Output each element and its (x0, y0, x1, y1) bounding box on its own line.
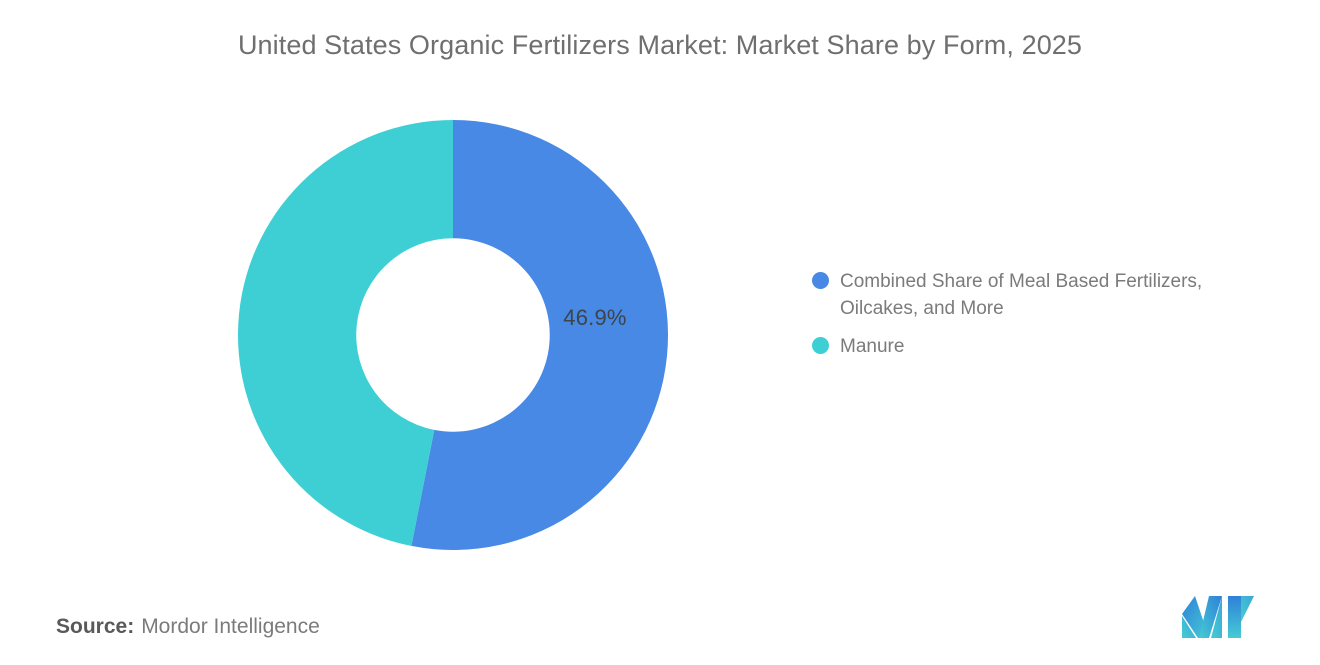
legend-swatch-circle-icon (812, 272, 829, 289)
donut-chart-svg (238, 120, 668, 550)
legend-swatch-circle-icon (812, 337, 829, 354)
legend-label-manure: Manure (840, 333, 904, 360)
data-label-manure: 46.9% (540, 305, 650, 331)
page-title: United States Organic Fertilizers Market… (0, 30, 1320, 61)
legend-item-combined-share[interactable]: Combined Share of Meal Based Fertilizers… (812, 268, 1292, 322)
donut-slice[interactable] (238, 120, 453, 546)
chart-legend: Combined Share of Meal Based Fertilizers… (812, 268, 1292, 371)
legend-item-manure[interactable]: Manure (812, 333, 1292, 360)
source-value: Mordor Intelligence (141, 615, 320, 638)
donut-chart (238, 120, 668, 550)
legend-label-combined-share: Combined Share of Meal Based Fertilizers… (840, 268, 1270, 322)
logo-svg (1182, 596, 1254, 638)
source-label: Source: (56, 615, 134, 638)
chart-canvas: United States Organic Fertilizers Market… (0, 0, 1320, 665)
mordor-intelligence-logo-icon (1182, 596, 1254, 638)
source-line: Source:Mordor Intelligence (56, 613, 320, 641)
